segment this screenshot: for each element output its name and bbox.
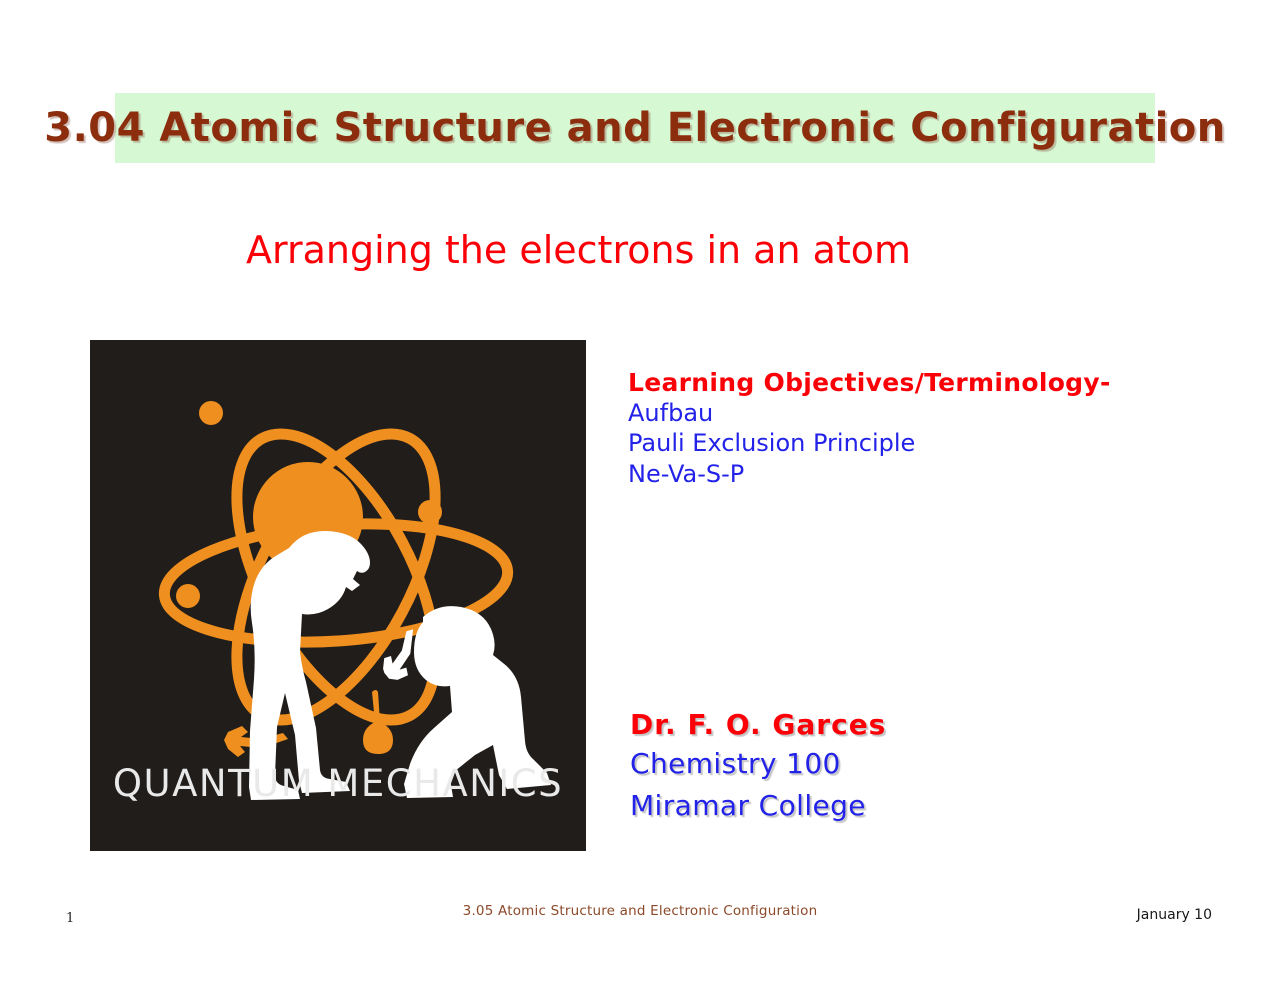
electron-dot-top-left [199, 401, 223, 425]
slide-subtitle: Arranging the electrons in an atom [246, 228, 911, 272]
footer-date: January 10 [1137, 907, 1212, 923]
author-course: Chemistry 100 [630, 743, 1150, 786]
objective-item-pauli-exclusion-principle: Pauli Exclusion Principle [628, 428, 1168, 459]
objectives-header: Learning Objectives/Terminology- [628, 369, 1168, 398]
page-title: 3.04 Atomic Structure and Electronic Con… [44, 105, 1226, 151]
title-banner: 3.04 Atomic Structure and Electronic Con… [115, 93, 1155, 163]
objective-item-ne-va-s-p: Ne-Va-S-P [628, 459, 1168, 490]
slide-canvas: 3.04 Atomic Structure and Electronic Con… [0, 0, 1280, 989]
quantum-mechanics-illustration: QUANTUM MECHANICS [90, 340, 586, 851]
objective-item-aufbau: Aufbau [628, 398, 1168, 429]
footer-title: 3.05 Atomic Structure and Electronic Con… [0, 903, 1280, 919]
illustration-caption: QUANTUM MECHANICS [113, 762, 563, 805]
electron-dot-right [418, 500, 442, 524]
learning-objectives-block: Learning Objectives/Terminology- Aufbau … [628, 369, 1168, 490]
author-institution: Miramar College [630, 785, 1150, 828]
author-block: Dr. F. O. Garces Chemistry 100 Miramar C… [630, 707, 1150, 828]
atom-workers-graphic: QUANTUM MECHANICS [90, 340, 586, 851]
author-name: Dr. F. O. Garces [630, 707, 1150, 743]
electron-dot-left [176, 584, 200, 608]
